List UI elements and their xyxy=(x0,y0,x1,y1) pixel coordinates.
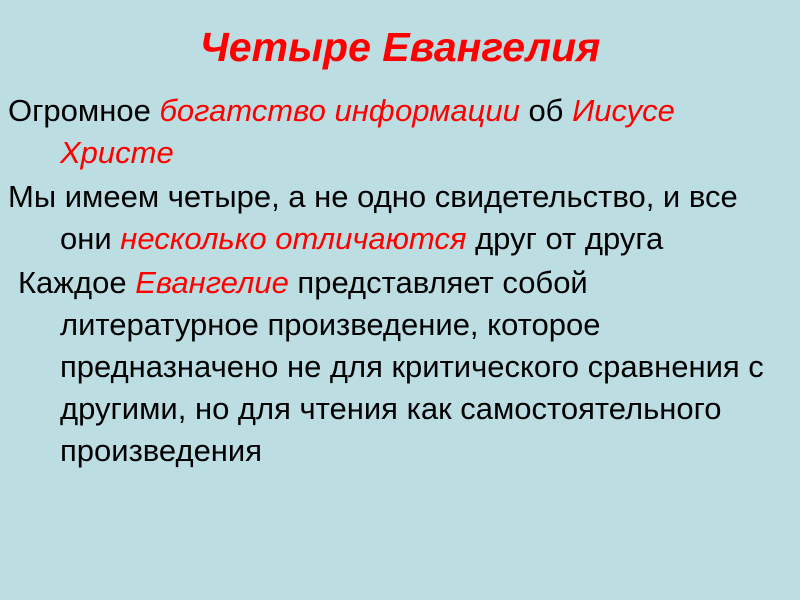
slide-title: Четыре Евангелия xyxy=(0,22,800,72)
run-emphasis: несколько отличаются xyxy=(120,221,466,256)
run-emphasis: богатство информации xyxy=(159,93,519,128)
run-text: об xyxy=(520,93,572,128)
run-text: друг от друга xyxy=(466,221,663,256)
slide-body: Огромное богатство информации об Иисусе … xyxy=(8,90,792,474)
paragraph-3-lead: Каждое xyxy=(18,265,135,300)
run-text: Каждое xyxy=(18,265,135,300)
run-text: Огромное xyxy=(8,93,159,128)
body-paragraph-1: Огромное богатство информации об Иисусе … xyxy=(8,90,792,174)
paragraph-1-lead: Огромное xyxy=(8,93,159,128)
run-emphasis: Евангелие xyxy=(135,265,289,300)
body-paragraph-3: Каждое Евангелие представляет собой лите… xyxy=(8,262,792,472)
presentation-slide: Четыре Евангелия Огромное богатство инфо… xyxy=(0,0,800,600)
body-paragraph-2: Мы имеем четыре, а не одно свидетельство… xyxy=(8,176,792,260)
